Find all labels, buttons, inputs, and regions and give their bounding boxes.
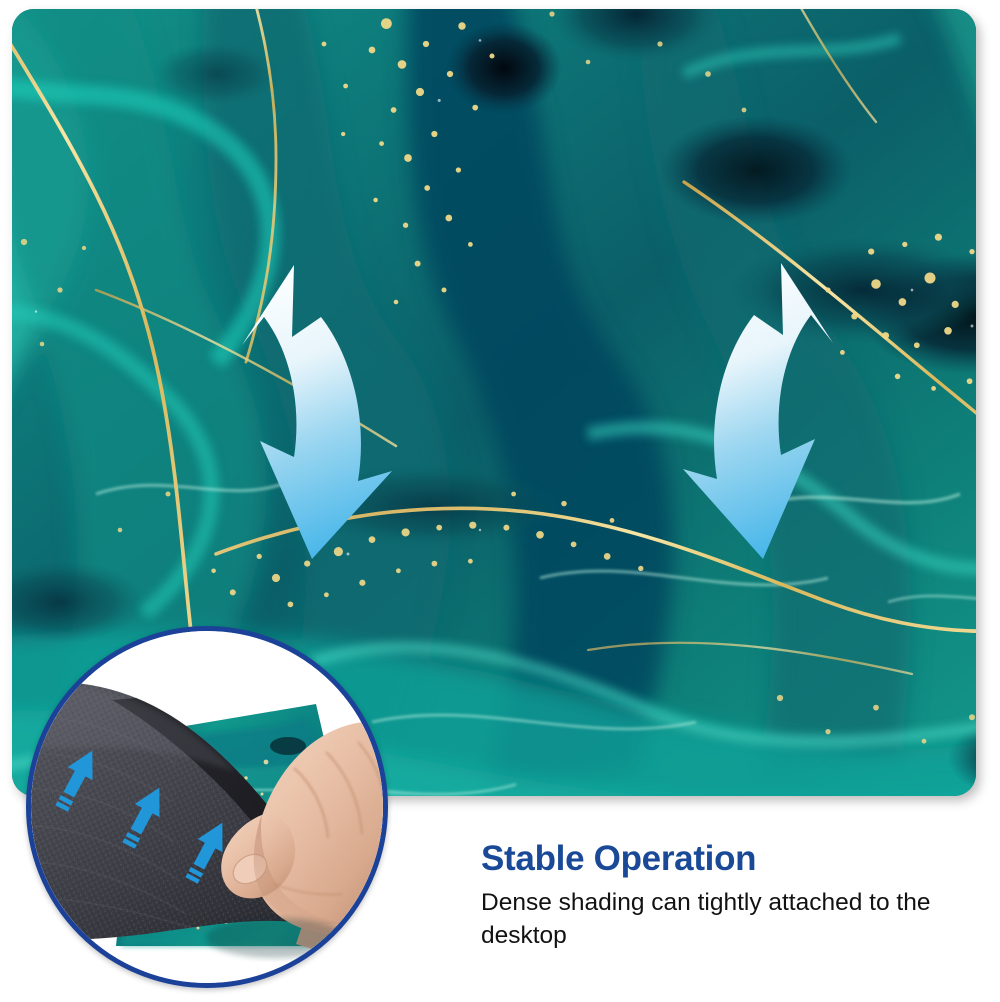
inset-illustration xyxy=(26,626,388,988)
circular-detail-inset xyxy=(26,626,388,988)
product-feature-image: Stable Operation Dense shading can tight… xyxy=(0,0,1000,1002)
caption-body: Dense shading can tightly attached to th… xyxy=(481,887,931,953)
caption-block: Stable Operation Dense shading can tight… xyxy=(481,841,981,952)
caption-title: Stable Operation xyxy=(481,841,981,878)
